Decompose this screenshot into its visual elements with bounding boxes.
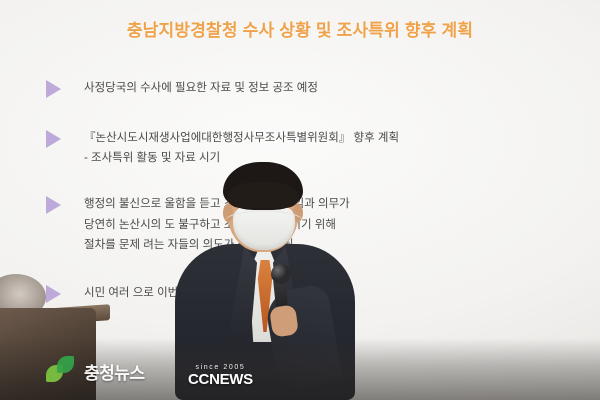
- watermark-brand: since 2005 CCNEWS: [188, 364, 253, 388]
- bullet-marker-icon: [46, 285, 61, 303]
- bullet-line: 『논산시도시재생사업에대한행정사무조사특별위원회』 향후 계획: [84, 128, 560, 148]
- bullet-item: 사정당국의 수사에 필요한 자료 및 정보 공조 예정: [40, 78, 560, 98]
- bullet-marker-icon: [46, 196, 61, 214]
- watermark-logo: 충청뉴스: [46, 356, 145, 386]
- photo-scene: 충남지방경찰청 수사 상황 및 조사특위 향후 계획 사정당국의 수사에 필요한…: [0, 0, 600, 400]
- face-mask-strap: [225, 210, 303, 232]
- watermark-brand-text: CCNEWS: [188, 371, 253, 388]
- leaf-icon: [46, 356, 76, 386]
- slide-title: 충남지방경찰청 수사 상황 및 조사특위 향후 계획: [0, 16, 600, 41]
- bullet-marker-icon: [46, 130, 61, 148]
- bullet-marker-icon: [46, 80, 61, 98]
- bullet-line: 사정당국의 수사에 필요한 자료 및 정보 공조 예정: [84, 78, 560, 98]
- watermark-text: 충청뉴스: [84, 359, 145, 384]
- watermark-since: since 2005: [188, 364, 253, 371]
- podium: [0, 308, 96, 400]
- speaker-hair: [223, 162, 303, 210]
- speaker-hand: [269, 304, 299, 337]
